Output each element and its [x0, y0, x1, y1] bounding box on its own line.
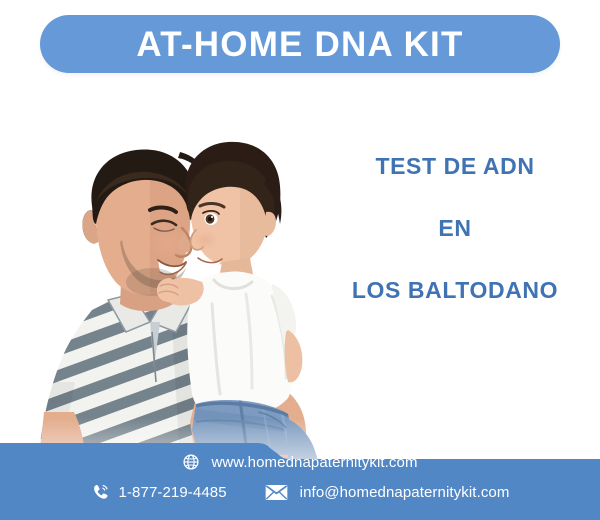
- headline-spacer-2: [320, 240, 590, 279]
- email-text: info@homednapaternitykit.com: [300, 484, 510, 501]
- envelope-icon: [265, 484, 288, 501]
- website-item[interactable]: www.homednapaternitykit.com: [182, 453, 417, 471]
- globe-icon: [182, 453, 200, 471]
- footer-bar: www.homednapaternitykit.com 1-877-219-44…: [0, 443, 600, 520]
- headline-line-1: TEST DE ADN: [320, 155, 590, 178]
- page-title: AT-HOME DNA KIT: [136, 27, 463, 62]
- headline-line-2: EN: [320, 217, 590, 240]
- headline-line-3: LOS BALTODANO: [320, 279, 590, 302]
- father-and-child-photo: [0, 82, 330, 460]
- phone-text: 1-877-219-4485: [119, 484, 227, 501]
- footer-content: www.homednapaternitykit.com 1-877-219-44…: [0, 443, 600, 520]
- website-text: www.homednapaternitykit.com: [211, 454, 417, 471]
- footer-website-row: www.homednapaternitykit.com: [0, 453, 600, 471]
- header-banner: AT-HOME DNA KIT: [40, 15, 560, 73]
- email-item[interactable]: info@homednapaternitykit.com: [265, 484, 510, 501]
- footer-contact-row: 1-877-219-4485 info@homednapaternitykit.…: [0, 483, 600, 502]
- father-and-child-illustration: [0, 82, 330, 460]
- phone-icon: [91, 483, 110, 502]
- headline-spacer-1: [320, 178, 590, 217]
- phone-item[interactable]: 1-877-219-4485: [91, 483, 227, 502]
- headline-block: TEST DE ADN EN LOS BALTODANO: [320, 155, 590, 302]
